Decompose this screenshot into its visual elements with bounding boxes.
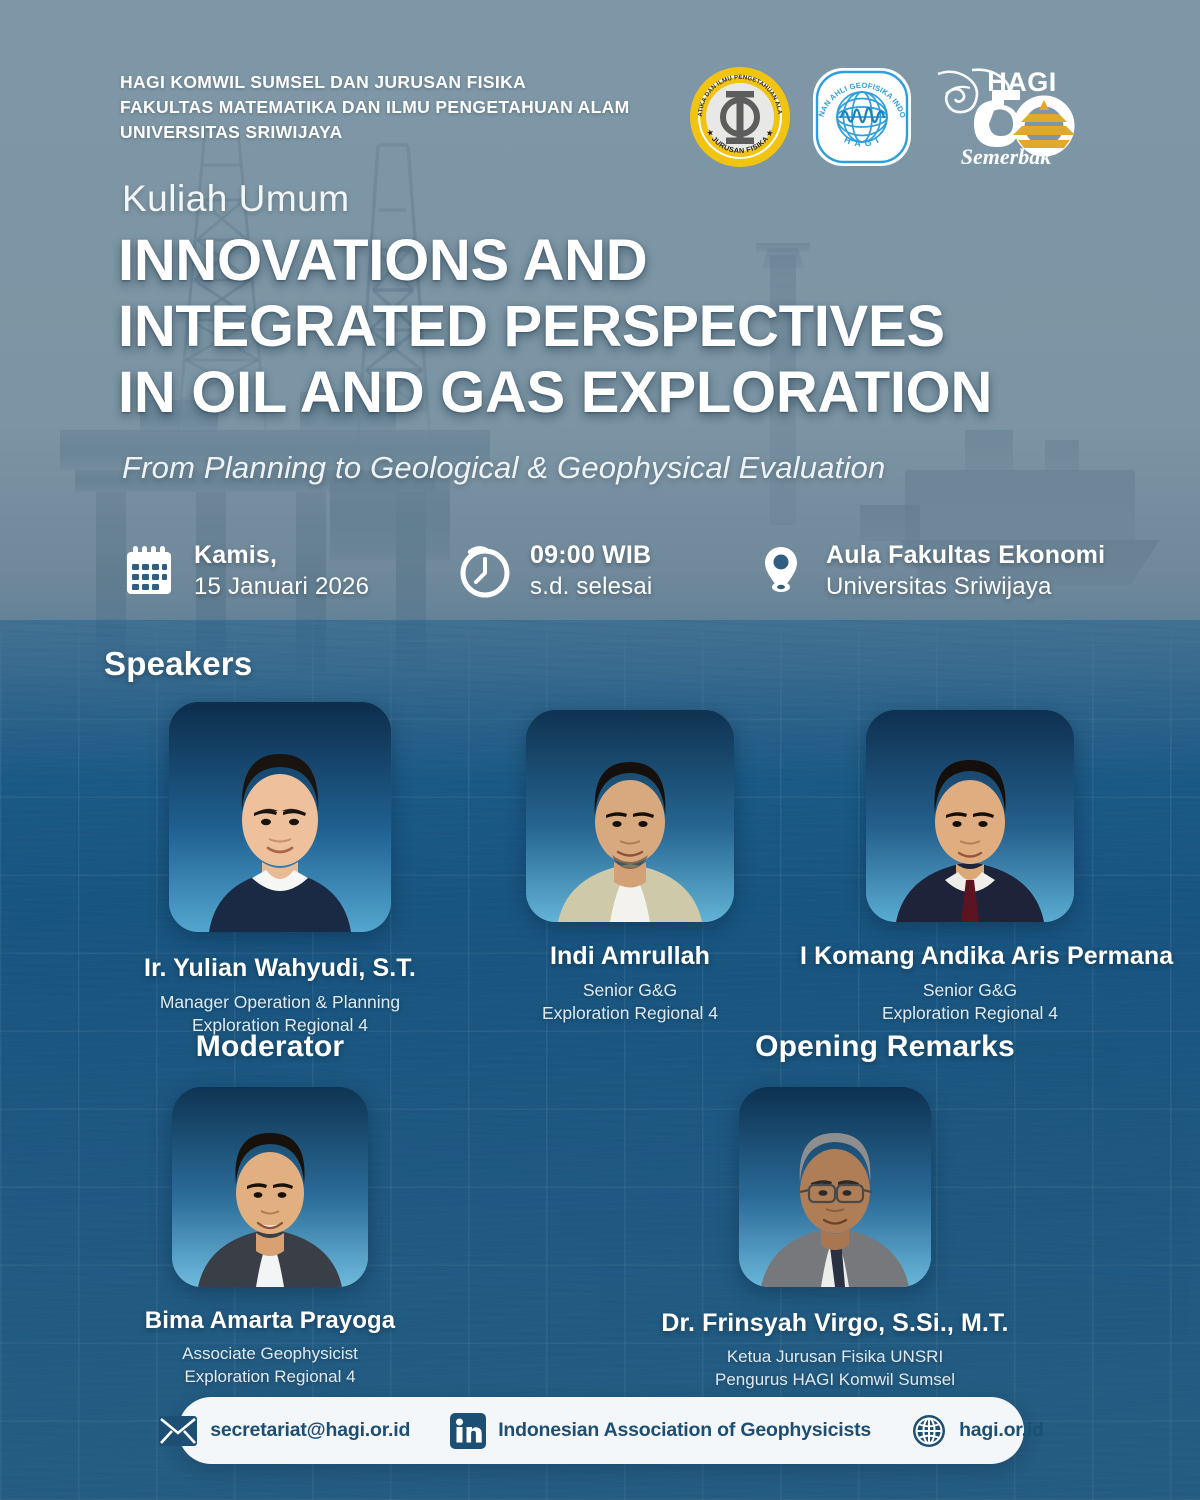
speaker-card-3: I Komang Andika Aris Permana Senior G&G … bbox=[800, 710, 1140, 1026]
speaker-role-1-line1: Manager Operation & Planning bbox=[100, 991, 460, 1014]
info-date-text: Kamis, 15 Januari 2026 bbox=[194, 540, 369, 602]
opening-remarks-photo bbox=[739, 1087, 931, 1287]
title-line-3: IN OIL AND GAS EXPLORATION bbox=[118, 360, 1128, 426]
opening-remarks-heading: Opening Remarks bbox=[570, 1030, 1200, 1064]
info-location: Aula Fakultas Ekonomi Universitas Sriwij… bbox=[752, 540, 1105, 602]
info-location-line2: Universitas Sriwijaya bbox=[826, 572, 1105, 602]
footer-website-item[interactable]: hagi.or.id bbox=[911, 1413, 1044, 1449]
info-time: 09:00 WIB s.d. selesai bbox=[456, 540, 752, 602]
opening-remarks-role: Ketua Jurusan Fisika UNSRI Pengurus HAGI… bbox=[620, 1346, 1050, 1392]
moderator-role: Associate Geophysicist Exploration Regio… bbox=[90, 1343, 450, 1389]
info-time-text: 09:00 WIB s.d. selesai bbox=[530, 540, 652, 602]
clock-icon bbox=[456, 542, 514, 600]
speaker-photo-2 bbox=[526, 710, 734, 922]
title-line-1: INNOVATIONS AND bbox=[118, 228, 1128, 294]
footer-email-text: secretariat@hagi.or.id bbox=[210, 1419, 410, 1442]
speaker-name-2: Indi Amrullah bbox=[460, 942, 800, 971]
speaker-photo-3 bbox=[866, 710, 1074, 922]
org-line-2: FAKULTAS MATEMATIKA DAN ILMU PENGETAHUAN… bbox=[120, 95, 680, 120]
speaker-role-2-line1: Senior G&G bbox=[460, 979, 800, 1002]
poster-root: HAGI KOMWIL SUMSEL DAN JURUSAN FISIKA FA… bbox=[0, 0, 1200, 1500]
speaker-role-3-line2: Exploration Regional 4 bbox=[800, 1002, 1140, 1025]
info-location-text: Aula Fakultas Ekonomi Universitas Sriwij… bbox=[826, 540, 1105, 602]
moderator-role-line1: Associate Geophysicist bbox=[90, 1343, 450, 1366]
speaker-name-3: I Komang Andika Aris Permana bbox=[800, 942, 1140, 971]
speaker-card-2: Indi Amrullah Senior G&G Exploration Reg… bbox=[460, 710, 800, 1026]
opening-remarks-role-line2: Pengurus HAGI Komwil Sumsel bbox=[620, 1369, 1050, 1392]
moderator-role-line2: Exploration Regional 4 bbox=[90, 1366, 450, 1389]
footer-linkedin-item[interactable]: Indonesian Association of Geophysicists bbox=[450, 1413, 871, 1449]
opening-remarks-role-line1: Ketua Jurusan Fisika UNSRI bbox=[620, 1346, 1050, 1369]
organisation-lines: HAGI KOMWIL SUMSEL DAN JURUSAN FISIKA FA… bbox=[120, 70, 680, 145]
calendar-icon bbox=[120, 542, 178, 600]
org-line-1: HAGI KOMWIL SUMSEL DAN JURUSAN FISIKA bbox=[120, 70, 680, 95]
linkedin-icon bbox=[450, 1413, 486, 1449]
speaker-role-2: Senior G&G Exploration Regional 4 bbox=[460, 979, 800, 1026]
info-date-line2: 15 Januari 2026 bbox=[194, 572, 369, 602]
speaker-card-1: Ir. Yulian Wahyudi, S.T. Manager Operati… bbox=[100, 702, 460, 1038]
hagi-globe-logo: HIMPUNAN AHLI GEOFISIKA INDONESIA H A G … bbox=[810, 65, 914, 169]
logo-row: FAKULTAS MATEMATIKA DAN ILMU PENGETAHUAN… bbox=[688, 64, 1082, 170]
info-time-line1: 09:00 WIB bbox=[530, 540, 652, 572]
info-time-line2: s.d. selesai bbox=[530, 572, 652, 602]
footer-website-text: hagi.or.id bbox=[959, 1419, 1044, 1442]
event-info-bar: Kamis, 15 Januari 2026 09:00 WIB s.d. se… bbox=[120, 540, 1120, 602]
speakers-heading: Speakers bbox=[104, 645, 252, 683]
moderator-name: Bima Amarta Prayoga bbox=[90, 1307, 450, 1335]
location-pin-icon bbox=[752, 542, 810, 600]
globe-icon bbox=[911, 1413, 947, 1449]
unsri-physics-logo: FAKULTAS MATEMATIKA DAN ILMU PENGETAHUAN… bbox=[688, 65, 792, 169]
hagi-50-semerbak-logo: HAGI Semerbak bbox=[932, 64, 1082, 170]
info-date: Kamis, 15 Januari 2026 bbox=[120, 540, 456, 602]
speaker-role-3-line1: Senior G&G bbox=[800, 979, 1140, 1002]
moderator-card: Bima Amarta Prayoga Associate Geophysici… bbox=[90, 1087, 450, 1389]
contact-footer-bar: secretariat@hagi.or.id Indonesian Associ… bbox=[178, 1397, 1024, 1464]
page-subtitle: From Planning to Geological & Geophysica… bbox=[122, 450, 885, 486]
moderator-heading: Moderator bbox=[0, 1030, 540, 1064]
speaker-role-2-line2: Exploration Regional 4 bbox=[460, 1002, 800, 1025]
speaker-photo-1 bbox=[169, 702, 391, 932]
semerbak-script: Semerbak bbox=[961, 144, 1051, 169]
org-line-3: UNIVERSITAS SRIWIJAYA bbox=[120, 120, 680, 145]
opening-remarks-card: Dr. Frinsyah Virgo, S.Si., M.T. Ketua Ju… bbox=[620, 1087, 1050, 1392]
footer-email-item[interactable]: secretariat@hagi.or.id bbox=[158, 1415, 410, 1447]
info-location-line1: Aula Fakultas Ekonomi bbox=[826, 540, 1105, 572]
speaker-name-1: Ir. Yulian Wahyudi, S.T. bbox=[100, 954, 460, 983]
page-title: INNOVATIONS AND INTEGRATED PERSPECTIVES … bbox=[118, 228, 1128, 425]
info-date-line1: Kamis, bbox=[194, 540, 369, 572]
email-icon bbox=[158, 1415, 198, 1447]
eyebrow-kuliah-umum: Kuliah Umum bbox=[122, 178, 350, 220]
moderator-photo bbox=[172, 1087, 368, 1287]
opening-remarks-name: Dr. Frinsyah Virgo, S.Si., M.T. bbox=[620, 1309, 1050, 1338]
speaker-role-3: Senior G&G Exploration Regional 4 bbox=[800, 979, 1140, 1026]
footer-linkedin-text: Indonesian Association of Geophysicists bbox=[498, 1419, 871, 1442]
title-line-2: INTEGRATED PERSPECTIVES bbox=[118, 294, 1128, 360]
